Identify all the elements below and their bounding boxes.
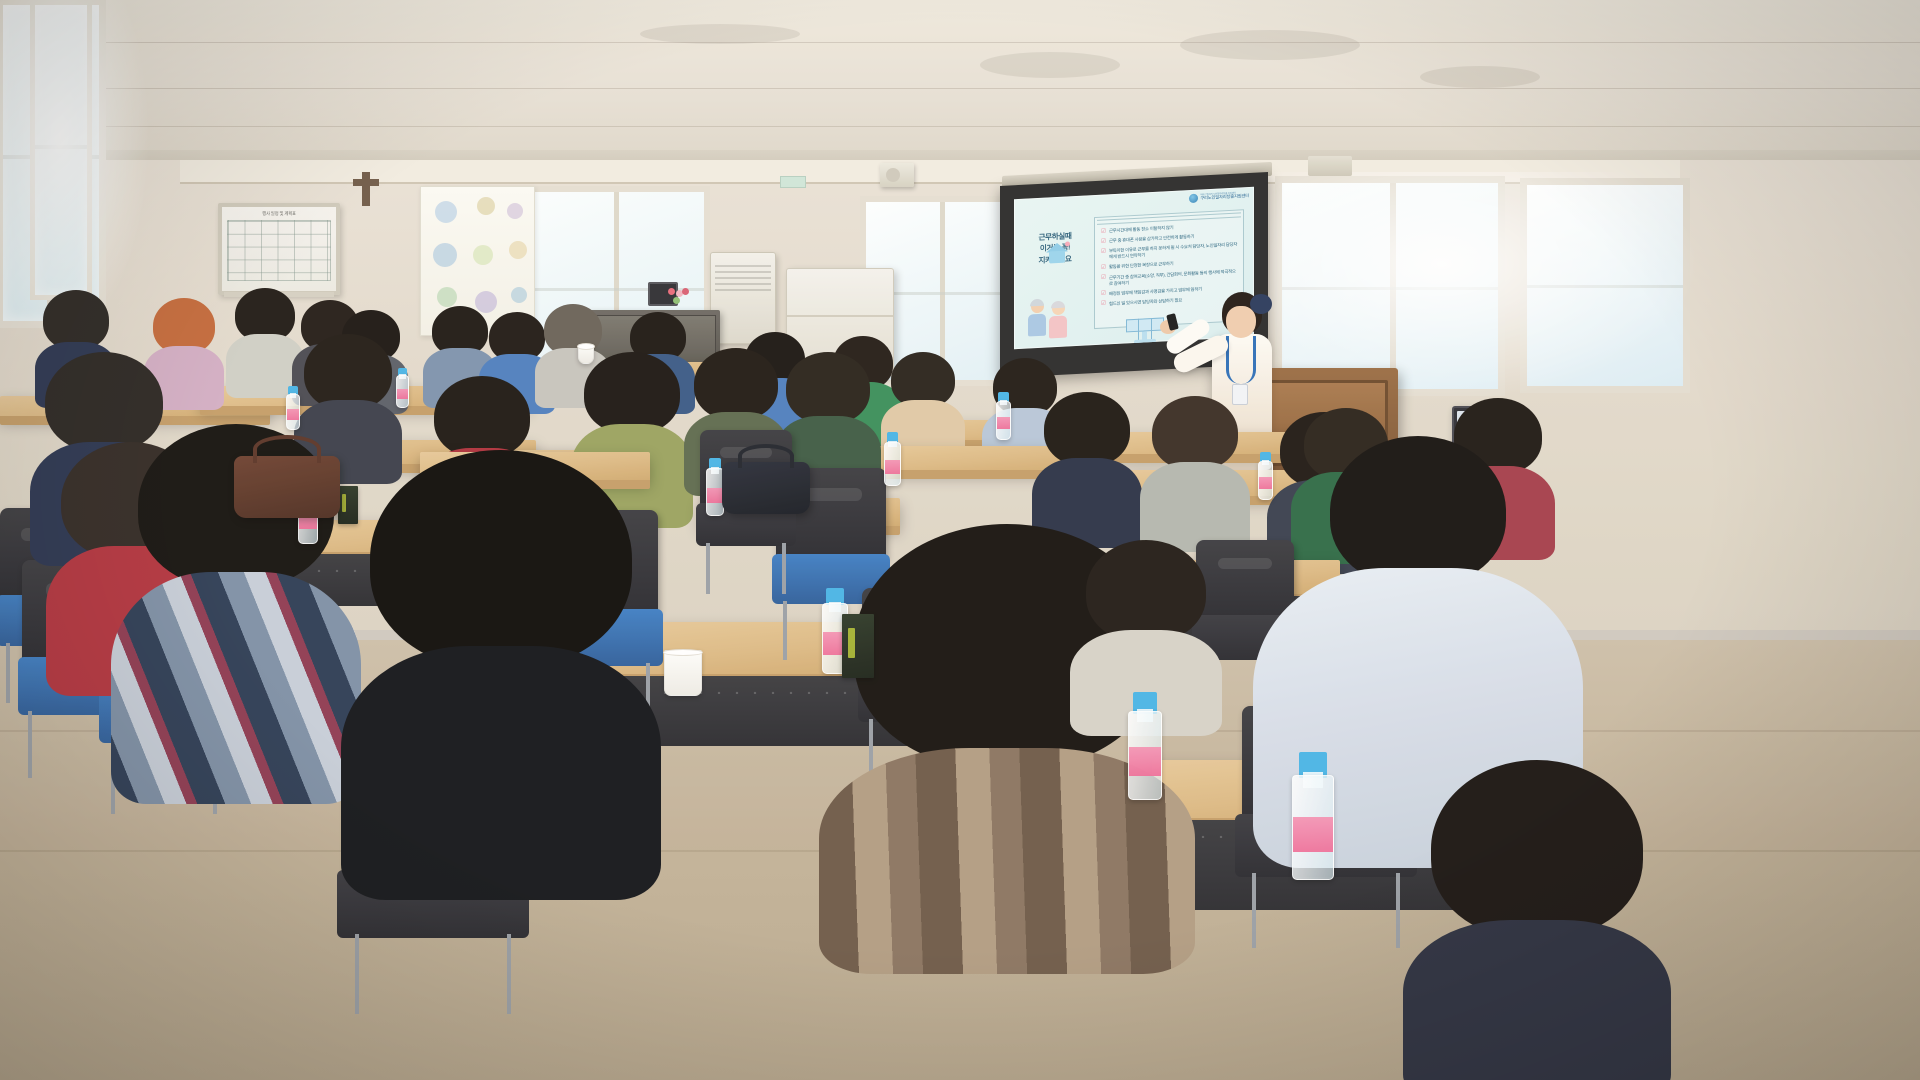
check-icon: ☑ xyxy=(1101,276,1106,282)
water-bottle[interactable] xyxy=(1128,692,1162,800)
slide-bullet-text: 힘드신 일 있으시면 담당자와 상담하기 필요 xyxy=(1109,297,1182,307)
attendee xyxy=(232,288,298,392)
whiteboard-calendar-grid xyxy=(227,220,331,281)
attendee xyxy=(1148,396,1242,536)
wall-cross-icon xyxy=(362,172,370,206)
logo-text: 구리노인일자리창출지원센터 xyxy=(1200,193,1249,201)
leather-handbag[interactable] xyxy=(234,456,340,518)
hair-clip xyxy=(1250,294,1272,314)
elderly-couple-illustration xyxy=(1028,292,1072,336)
lectern-illustration xyxy=(1126,317,1164,345)
window-far-right-second xyxy=(1520,178,1690,393)
slide-bullet-text: 근무 중 휴대폰 사용을 삼가하고 안전하게 활동하기 xyxy=(1109,234,1194,244)
whiteboard-title: 행사 일정 및 계획표 xyxy=(222,211,336,217)
window-left-inner xyxy=(30,0,92,300)
whiteboard: 행사 일정 및 계획표 xyxy=(218,203,340,295)
water-bottle[interactable] xyxy=(1258,452,1273,500)
check-icon: ☑ xyxy=(1101,302,1106,308)
dark-green-carton[interactable] xyxy=(842,614,874,678)
water-bottle[interactable] xyxy=(884,432,901,486)
window-far-right xyxy=(1275,176,1505,396)
exit-sign xyxy=(780,176,806,188)
classroom-photo-scene: 행사 일정 및 계획표 어르신 일자리 노인일자리창출 지원센터 구리노인일자리… xyxy=(0,0,1920,1080)
attendee xyxy=(1040,392,1134,532)
dark-green-carton[interactable] xyxy=(338,486,358,524)
attendee-foreground xyxy=(1412,760,1662,1080)
slide-bullet-text: 활동을 위한 단정한 복장으로 근무하기 xyxy=(1109,261,1174,270)
attendee-foreground xyxy=(356,450,646,880)
check-icon: ☑ xyxy=(1101,239,1106,245)
ceiling-speaker xyxy=(880,163,914,187)
paper-cup[interactable] xyxy=(578,344,594,364)
check-icon: ☑ xyxy=(1101,292,1106,298)
water-bottle[interactable] xyxy=(396,368,409,408)
house-with-pin-icon xyxy=(1046,242,1068,263)
leather-handbag[interactable] xyxy=(722,462,810,514)
slide-headline-block: 근무하실때 이거는 꼭! 지켜주세요 xyxy=(1022,229,1088,267)
ceiling-speaker-right xyxy=(1308,156,1352,176)
check-icon: ☑ xyxy=(1101,249,1106,255)
logo-mark-icon xyxy=(1189,194,1198,203)
water-bottle[interactable] xyxy=(286,386,300,430)
slide-bullet-text: 부득이한 이유로 근무를 하지 못하게 될 시 수요처 담당자, 노인일자리 담… xyxy=(1109,242,1239,261)
lanyard xyxy=(1226,336,1256,384)
slide-bullet-text: 근무기간 중 참여교육(소양, 직무), 간담회의, 문화활동 등의 행사에 적… xyxy=(1109,268,1239,287)
check-icon: ☑ xyxy=(1101,265,1106,271)
water-bottle[interactable] xyxy=(1292,752,1334,880)
slide-bullet-text: 근무시간대에 활동 장소 이탈하지 않기 xyxy=(1109,225,1174,234)
water-bottle[interactable] xyxy=(996,392,1011,440)
check-icon: ☑ xyxy=(1101,229,1106,235)
presenter-face xyxy=(1226,306,1256,338)
paper-cup[interactable] xyxy=(664,650,702,696)
flower-vase xyxy=(668,288,690,308)
